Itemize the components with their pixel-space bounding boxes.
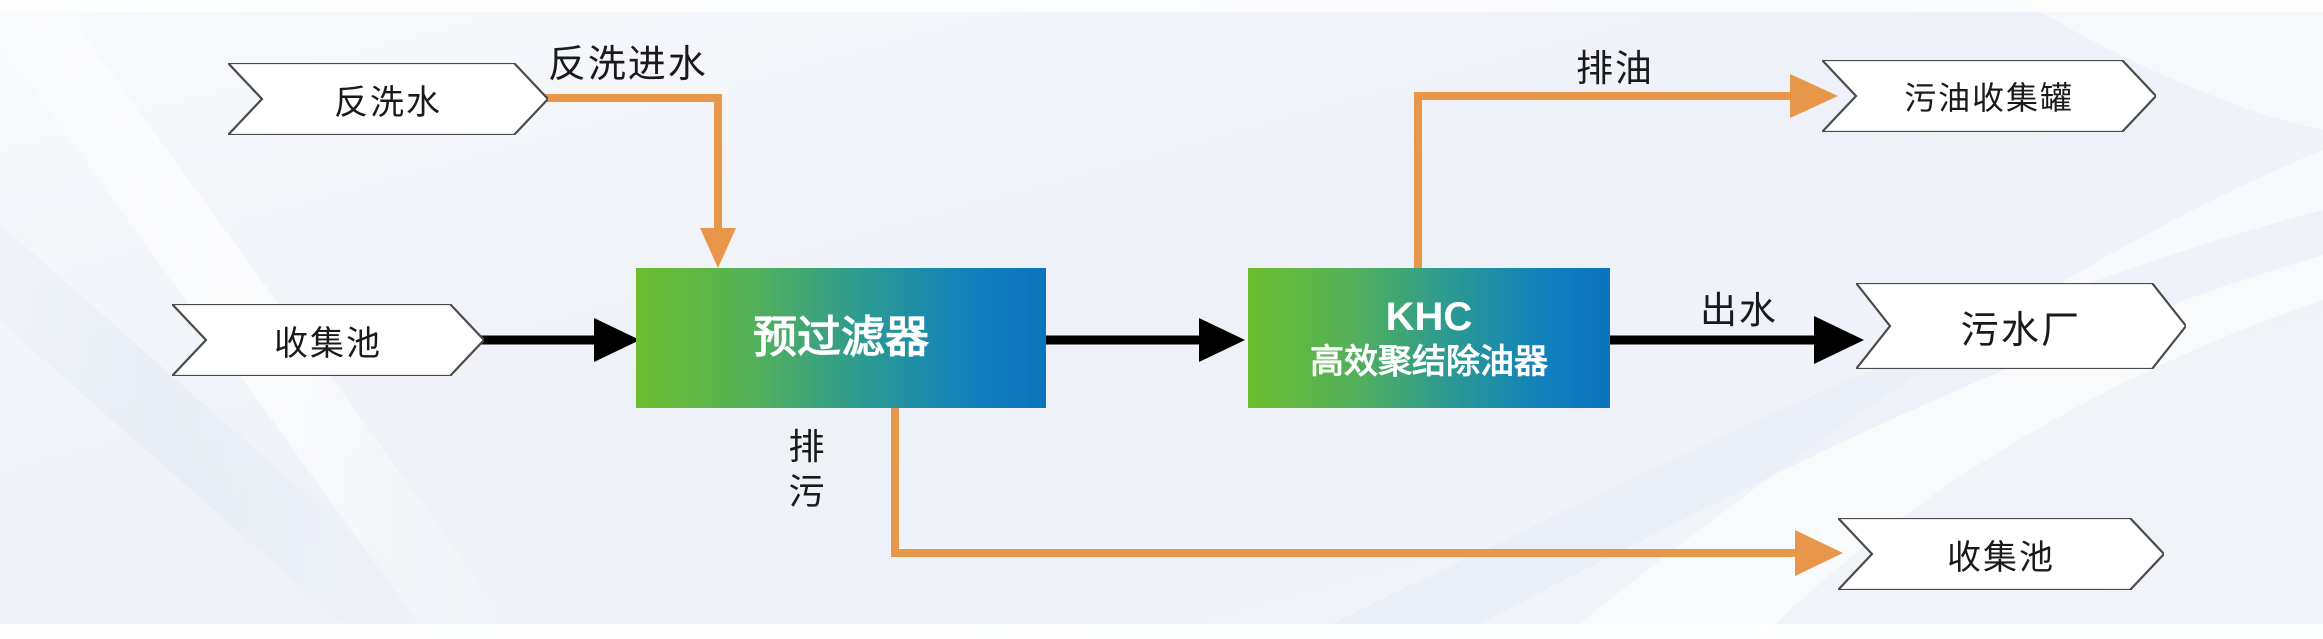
node-label: 反洗水 <box>334 75 442 124</box>
node-collection-pond-out[interactable]: 收集池 <box>1838 518 2164 590</box>
edge-filtered-water <box>1045 318 1245 362</box>
edge-oil-discharge <box>1418 74 1838 272</box>
node-label: 收集池 <box>1947 530 2055 579</box>
node-label: 污水厂 <box>1961 299 2082 354</box>
node-label-line2: 高效聚结除油器 <box>1310 342 1548 382</box>
edge-blowdown <box>895 408 1843 576</box>
node-sewage-plant[interactable]: 污水厂 <box>1856 283 2186 369</box>
edge-label-backwash-inlet: 反洗进水 <box>548 33 708 88</box>
node-pre-filter[interactable]: 预过滤器 <box>636 268 1046 408</box>
node-waste-oil-tank[interactable]: 污油收集罐 <box>1822 60 2156 132</box>
edge-raw-water <box>470 318 640 362</box>
node-label-line1: KHC <box>1386 294 1473 341</box>
node-backwash-water[interactable]: 反洗水 <box>228 63 548 135</box>
node-label: 污油收集罐 <box>1904 73 2074 119</box>
edge-label-blowdown: 排 污 <box>784 425 831 515</box>
node-khc-deoiler[interactable]: KHC 高效聚结除油器 <box>1248 268 1610 408</box>
flow-diagram-canvas: 反洗水 反洗进水 收集池 预过滤器 排 污 KHC 高效聚结除油器 排油 污油收… <box>0 0 2323 639</box>
node-collection-pond-in[interactable]: 收集池 <box>172 304 484 376</box>
edge-label-oil-discharge: 排油 <box>1576 38 1654 92</box>
blowdown-char-2: 污 <box>788 472 826 512</box>
node-label: 收集池 <box>274 316 382 365</box>
edge-backwash-inlet <box>540 98 736 268</box>
node-label: 预过滤器 <box>753 312 929 364</box>
edge-label-effluent: 出水 <box>1700 280 1778 334</box>
blowdown-char-1: 排 <box>788 427 826 467</box>
